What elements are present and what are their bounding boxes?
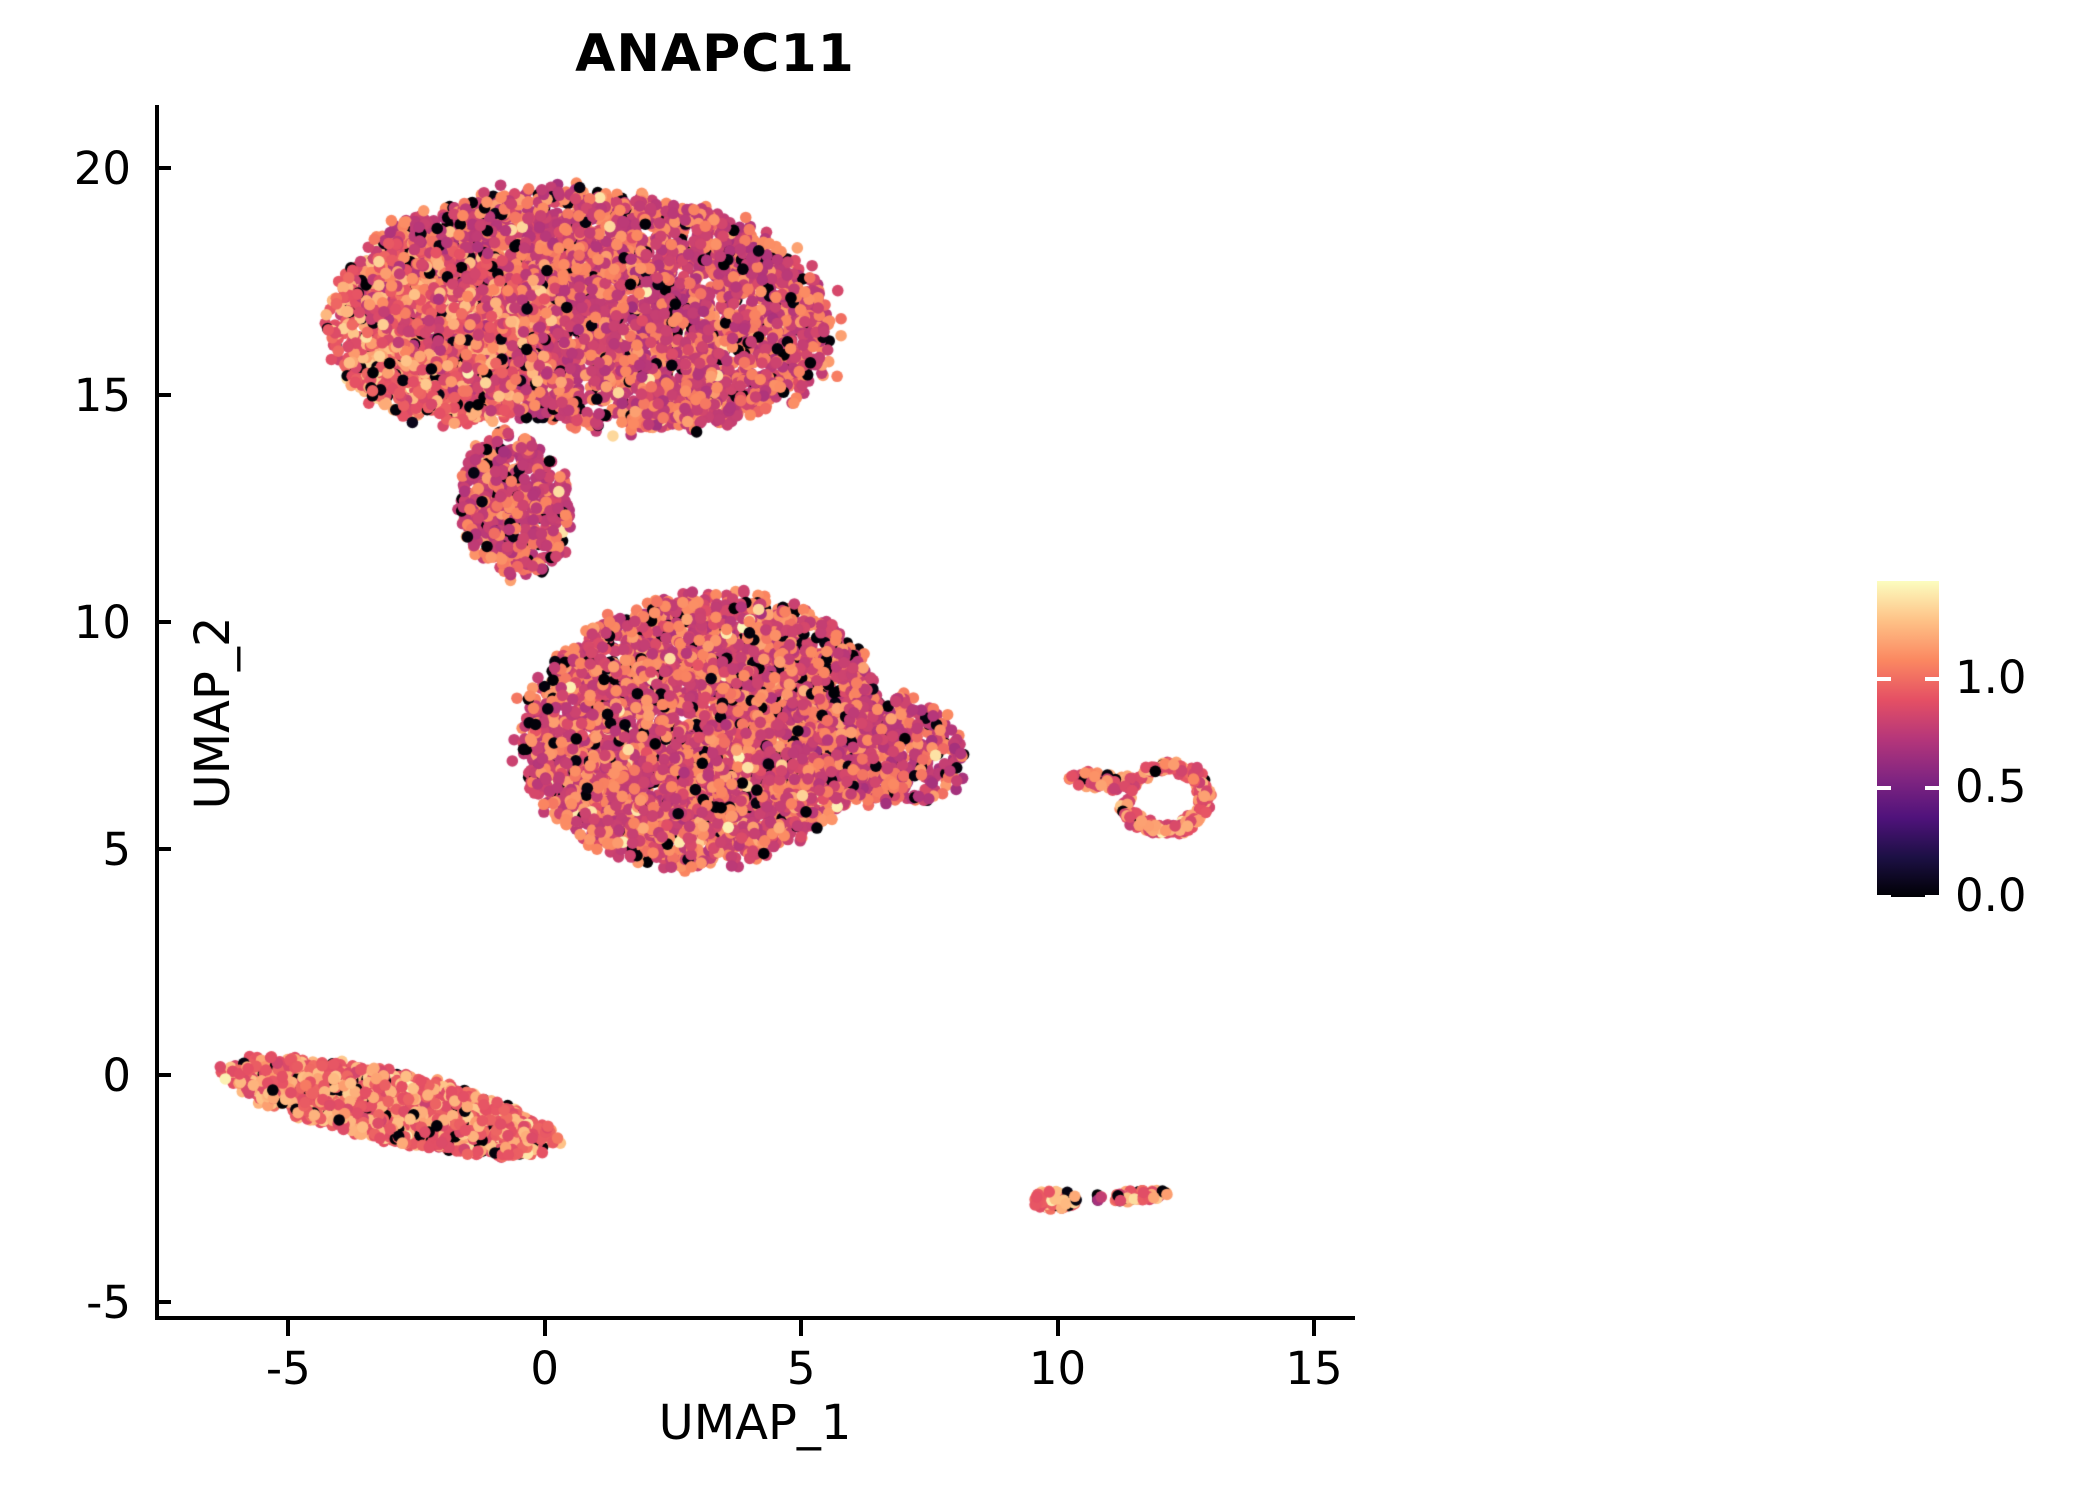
x-axis-line <box>155 1316 1355 1320</box>
x-tick-mark <box>799 1320 803 1336</box>
y-tick-mark <box>155 166 171 170</box>
colorbar-tick-mark <box>1877 895 1891 899</box>
y-axis-line <box>155 105 159 1320</box>
y-tick-mark <box>155 620 171 624</box>
colorbar-tick-label: 0.5 <box>1955 760 2027 813</box>
y-tick-mark <box>155 1073 171 1077</box>
y-tick-label: 0 <box>102 1049 131 1102</box>
y-tick-label: 10 <box>74 596 131 649</box>
y-tick-mark <box>155 1300 171 1304</box>
x-tick-label: 10 <box>1029 1342 1086 1395</box>
y-tick-label: 15 <box>74 369 131 422</box>
x-tick-label: 5 <box>787 1342 816 1395</box>
colorbar-tick-mark <box>1877 677 1891 681</box>
colorbar-tick-mark <box>1925 677 1939 681</box>
y-tick-mark <box>155 847 171 851</box>
colorbar-tick-mark <box>1925 895 1939 899</box>
colorbar-tick-mark <box>1925 786 1939 790</box>
x-axis-label: UMAP_1 <box>155 1395 1355 1451</box>
y-tick-label: 20 <box>74 142 131 195</box>
colorbar-tick-label: 1.0 <box>1955 651 2027 704</box>
x-tick-mark <box>1312 1320 1316 1336</box>
y-tick-label: -5 <box>86 1276 131 1329</box>
x-tick-mark <box>1056 1320 1060 1336</box>
y-axis-label: UMAP_2 <box>185 616 241 809</box>
x-tick-label: -5 <box>266 1342 311 1395</box>
y-tick-label: 5 <box>102 823 131 876</box>
colorbar-tick-label: 0.0 <box>1955 869 2027 922</box>
page-title: ANAPC11 <box>0 24 1430 84</box>
umap-feature-plot: ANAPC11 -505101520 -5051015 UMAP_2 UMAP_… <box>0 0 2100 1500</box>
scatter-points-canvas <box>155 105 1355 1320</box>
colorbar-tick-mark <box>1877 786 1891 790</box>
x-tick-label: 15 <box>1285 1342 1342 1395</box>
y-tick-mark <box>155 393 171 397</box>
x-tick-label: 0 <box>530 1342 559 1395</box>
plot-axes: -505101520 -5051015 UMAP_2 UMAP_1 <box>155 105 1355 1320</box>
colorbar: 0.00.51.0 <box>1877 581 2077 901</box>
x-tick-mark <box>543 1320 547 1336</box>
colorbar-gradient <box>1877 581 1939 897</box>
x-tick-mark <box>286 1320 290 1336</box>
